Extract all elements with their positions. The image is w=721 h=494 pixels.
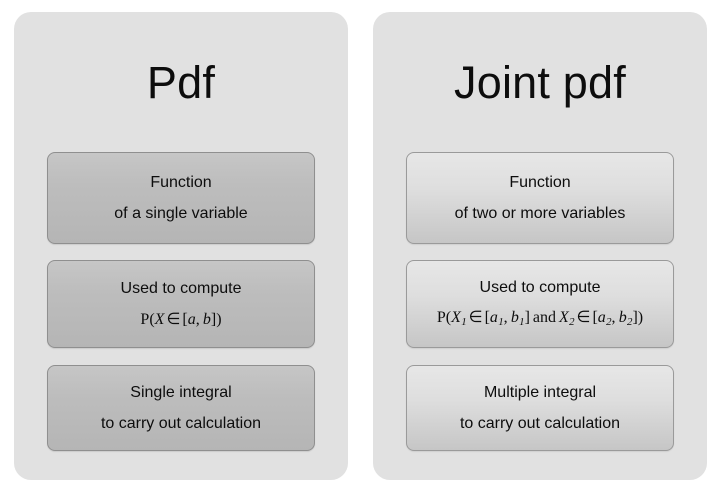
interval2-upper-b: b	[619, 309, 627, 326]
pdf-function-box: Function of a single variable	[47, 152, 315, 244]
comparison-diagram: Pdf Function of a single variable Used t…	[0, 0, 721, 494]
pdf-compute-box: Used to compute P(X∈[a, b])	[47, 260, 315, 348]
joint-integral-box: Multiple integral to carry out calculati…	[406, 365, 674, 451]
pdf-function-line2: of a single variable	[114, 205, 247, 223]
pdf-integral-line2: to carry out calculation	[101, 415, 261, 433]
joint-probability-expression: P(X1∈[a1, b1]andX2∈[a2, b2])	[437, 309, 643, 329]
panel-title-pdf: Pdf	[14, 60, 348, 105]
joint-function-box: Function of two or more variables	[406, 152, 674, 244]
pdf-integral-box: Single integral to carry out calculation	[47, 365, 315, 451]
interval1-comma: ,	[504, 309, 508, 326]
random-variable-x2: X	[559, 309, 569, 326]
paren-close: )	[638, 309, 643, 326]
pdf-integral-line1: Single integral	[130, 384, 231, 402]
interval-lower-a: a	[188, 311, 196, 328]
interval2-comma: ,	[612, 309, 616, 326]
interval-comma: ,	[196, 311, 200, 328]
pdf-function-line1: Function	[150, 174, 211, 192]
panel-joint-pdf: Joint pdf Function of two or more variab…	[373, 12, 707, 480]
interval1-upper-b: b	[511, 309, 519, 326]
panel-pdf: Pdf Function of a single variable Used t…	[14, 12, 348, 480]
element-of-symbol-1: ∈	[467, 309, 485, 326]
subscript-1: 1	[461, 316, 467, 328]
joint-compute-box: Used to compute P(X1∈[a1, b1]andX2∈[a2, …	[406, 260, 674, 348]
paren-close: )	[216, 311, 221, 328]
pdf-compute-line1: Used to compute	[121, 280, 242, 298]
panel-title-joint-pdf: Joint pdf	[373, 60, 707, 105]
interval1-lower-a: a	[490, 309, 498, 326]
prob-operator: P(	[437, 309, 451, 326]
element-of-symbol: ∈	[164, 311, 182, 328]
random-variable-x1: X	[451, 309, 461, 326]
interval-upper-b: b	[203, 311, 211, 328]
joint-integral-line2: to carry out calculation	[460, 415, 620, 433]
random-variable-x: X	[155, 311, 165, 328]
joint-integral-line1: Multiple integral	[484, 384, 596, 402]
joint-function-line1: Function	[509, 174, 570, 192]
prob-operator: P(	[140, 311, 154, 328]
pdf-probability-expression: P(X∈[a, b])	[140, 311, 221, 329]
joint-compute-line1: Used to compute	[480, 279, 601, 297]
conjunction-and: and	[530, 309, 559, 326]
subscript-2: 2	[569, 316, 575, 328]
joint-function-line2: of two or more variables	[455, 205, 626, 223]
interval2-lower-a: a	[598, 309, 606, 326]
element-of-symbol-2: ∈	[575, 309, 593, 326]
